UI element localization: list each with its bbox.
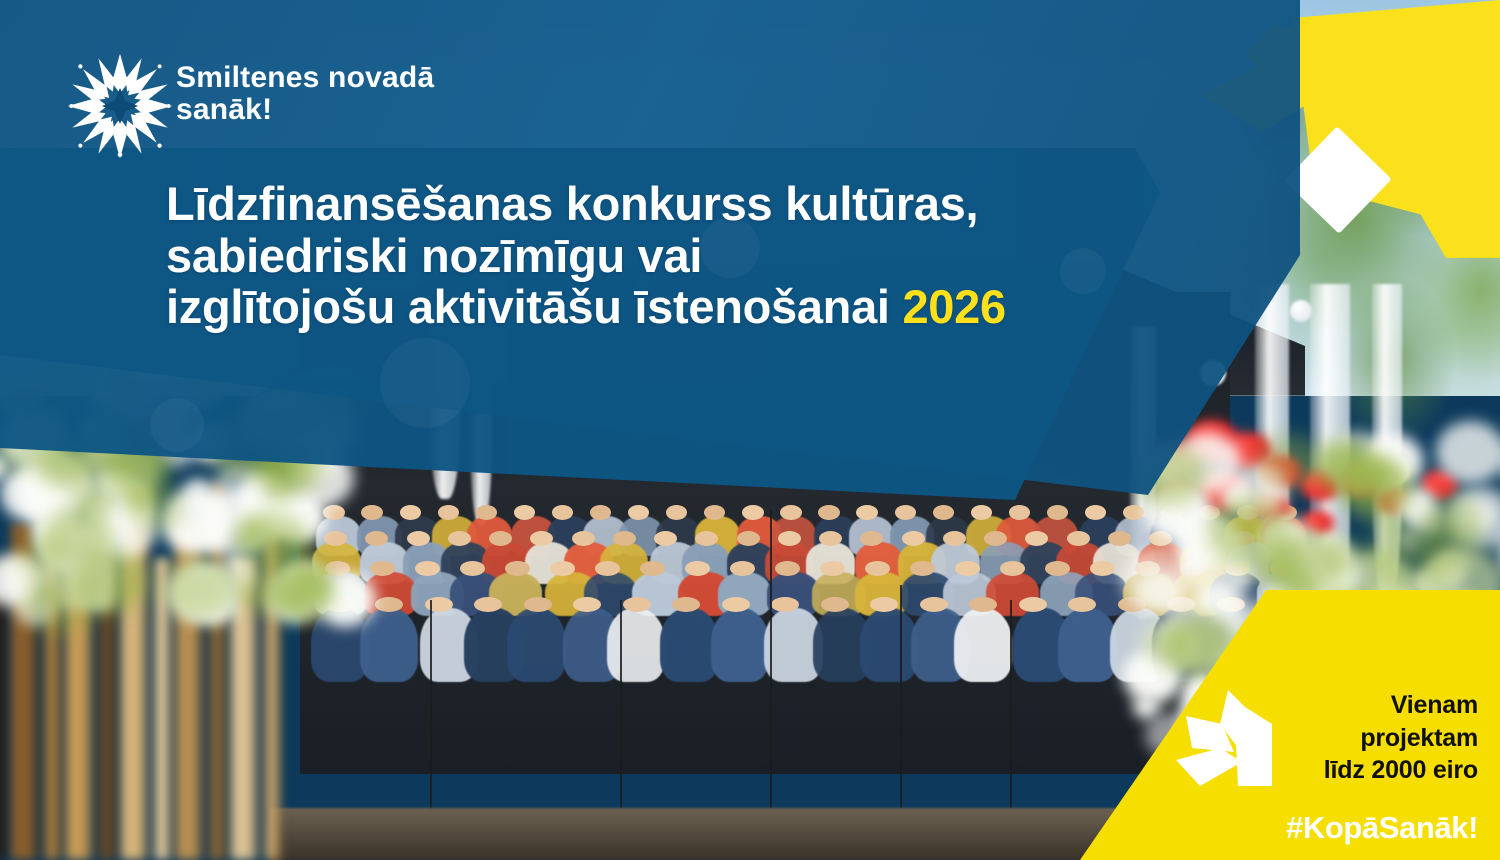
fence-plank xyxy=(100,522,118,860)
choir-member-head xyxy=(448,531,471,546)
choir-member-head xyxy=(685,561,710,576)
choir-member-head xyxy=(856,505,877,520)
choir-member-head xyxy=(1217,597,1245,612)
choir-member-head xyxy=(1085,505,1106,520)
choir-member-head xyxy=(775,561,800,576)
choir-member xyxy=(360,608,418,682)
choir-member-head xyxy=(572,531,595,546)
choir-member-head xyxy=(361,505,382,520)
choir-member-head xyxy=(573,597,601,612)
choir-member-head xyxy=(476,505,497,520)
choir-member-head xyxy=(1135,561,1160,576)
fence-plank xyxy=(176,521,207,860)
badge-line-2: projektam xyxy=(1250,722,1478,754)
choir-member xyxy=(860,608,918,682)
fence-plank xyxy=(45,486,63,860)
fence-plank xyxy=(210,484,228,860)
choir-member-head xyxy=(623,597,651,612)
choir-member-head xyxy=(590,505,611,520)
choir-member-head xyxy=(969,597,997,612)
microphone-stand xyxy=(770,510,772,840)
choir-member-head xyxy=(1047,505,1068,520)
choir-member-head xyxy=(771,597,799,612)
choir-member-head xyxy=(1270,561,1295,576)
choir-member-head xyxy=(474,597,502,612)
choir-member-head xyxy=(552,505,573,520)
choir-member-head xyxy=(1225,561,1250,576)
choir-member-head xyxy=(514,505,535,520)
choir-member-head xyxy=(460,561,485,576)
choir-member-head xyxy=(819,531,842,546)
choir-member-head xyxy=(1090,561,1115,576)
geranium-flower xyxy=(1340,462,1384,496)
geranium-flower xyxy=(1252,492,1290,522)
choir-member-head xyxy=(742,505,763,520)
choir-member-head xyxy=(933,505,954,520)
geranium-flower xyxy=(1420,470,1458,500)
choir-member-head xyxy=(1108,531,1131,546)
badge-text: Vienam projektam līdz 2000 eiro xyxy=(1250,689,1478,786)
headline-line-3-wrap: izglītojošu aktivitāšu īstenošanai 2026 xyxy=(166,281,1186,333)
decorative-dot xyxy=(150,398,204,452)
choir-member-head xyxy=(505,561,530,576)
choir-member-head xyxy=(325,561,350,576)
stage-curtain xyxy=(1372,284,1402,602)
choir-member-head xyxy=(955,561,980,576)
choir-member xyxy=(1152,608,1210,682)
choir-member-head xyxy=(1067,531,1090,546)
flower-burst-logo-icon xyxy=(66,52,174,160)
badge-line-1: Vienam xyxy=(1250,689,1478,721)
choir-member xyxy=(711,608,769,682)
choir-member-head xyxy=(415,561,440,576)
choir-member-head xyxy=(1009,505,1030,520)
choir-member-head xyxy=(1000,561,1025,576)
choir-member-head xyxy=(323,505,344,520)
choir-member-head xyxy=(1149,531,1172,546)
choir-member-head xyxy=(818,505,839,520)
choir-member-head xyxy=(407,531,430,546)
microphone-stand xyxy=(1010,600,1012,840)
choir-member-head xyxy=(438,505,459,520)
fence-plank xyxy=(265,520,283,860)
choir-member-head xyxy=(672,597,700,612)
choir-member-head xyxy=(613,531,636,546)
choir-member-head xyxy=(902,531,925,546)
choir-member-head xyxy=(375,597,403,612)
choir-member xyxy=(954,608,1012,682)
headline-line-3: izglītojošu aktivitāšu īstenošanai xyxy=(166,280,890,333)
choir-member-head xyxy=(870,597,898,612)
geranium-flower xyxy=(1300,470,1340,501)
choir-member-head xyxy=(1180,561,1205,576)
choir-member-head xyxy=(1045,561,1070,576)
brand-line-1: Smiltenes novadā xyxy=(176,62,434,94)
choir-member-head xyxy=(1068,597,1096,612)
choir-member xyxy=(607,608,665,682)
badge-hashtag: #KopāSanāk! xyxy=(1228,810,1478,846)
choir-member-head xyxy=(400,505,421,520)
choir-member-head xyxy=(370,561,395,576)
choir-member-head xyxy=(595,561,620,576)
choir-member-head xyxy=(910,561,935,576)
choir-member xyxy=(507,608,565,682)
choir-member-head xyxy=(780,505,801,520)
choir-member-head xyxy=(895,505,916,520)
choir-member-head xyxy=(820,561,845,576)
geranium-flower xyxy=(1300,510,1334,537)
choir-member-head xyxy=(920,597,948,612)
headline-year: 2026 xyxy=(902,280,1005,333)
headline-line-2: sabiedriski nozīmīgu vai xyxy=(166,230,1186,282)
choir-member-head xyxy=(821,597,849,612)
headline-line-1: Līdzfinansēšanas konkurss kultūras, xyxy=(166,178,1186,230)
geranium-flower xyxy=(1376,486,1410,513)
choir-member-head xyxy=(1273,531,1296,546)
badge-line-3: līdz 2000 eiro xyxy=(1250,754,1478,786)
brand-wordmark: Smiltenes novadā sanāk! xyxy=(176,62,434,127)
fence-plank xyxy=(11,523,42,860)
choir-member-head xyxy=(778,531,801,546)
balloon xyxy=(1290,300,1312,322)
choir-member-head xyxy=(524,597,552,612)
balloon xyxy=(1380,455,1410,485)
choir-member-head xyxy=(326,597,354,612)
decorative-dot xyxy=(380,338,470,428)
wooden-fence xyxy=(0,440,320,860)
choir-member-head xyxy=(1118,597,1146,612)
page-title: Līdzfinansēšanas konkurss kultūras, sabi… xyxy=(166,178,1186,333)
choir-member-head xyxy=(730,561,755,576)
choir-member xyxy=(1058,608,1116,682)
fence-plank xyxy=(66,559,97,860)
choir-member-head xyxy=(865,561,890,576)
banner-canvas: Smiltenes novadā sanāk! Līdzfinansēšanas… xyxy=(0,0,1500,860)
choir-member-head xyxy=(737,531,760,546)
choir-member-head xyxy=(640,561,665,576)
choir-member-head xyxy=(489,531,512,546)
choir-member-head xyxy=(1019,597,1047,612)
brand-line-2: sanāk! xyxy=(176,94,434,126)
choir-member-head xyxy=(943,531,966,546)
choir-member-head xyxy=(1167,597,1195,612)
geranium-flower xyxy=(1160,478,1196,506)
microphone-stand xyxy=(430,600,432,840)
choir-member-head xyxy=(1232,531,1255,546)
choir-member-head xyxy=(971,505,992,520)
geranium-flower xyxy=(1258,455,1302,489)
choir-member-head xyxy=(550,561,575,576)
choir-member-head xyxy=(324,531,347,546)
choir-member xyxy=(660,608,718,682)
geranium-flower xyxy=(1196,470,1248,511)
fence-plank xyxy=(0,560,8,860)
choir-member-head xyxy=(654,531,677,546)
microphone-stand xyxy=(620,600,622,840)
microphone-stand xyxy=(900,585,902,840)
choir-member-head xyxy=(722,597,750,612)
fence-plank xyxy=(231,557,262,860)
choir-member-head xyxy=(984,531,1007,546)
fence-plank xyxy=(121,485,152,860)
fence-plank xyxy=(155,558,173,860)
